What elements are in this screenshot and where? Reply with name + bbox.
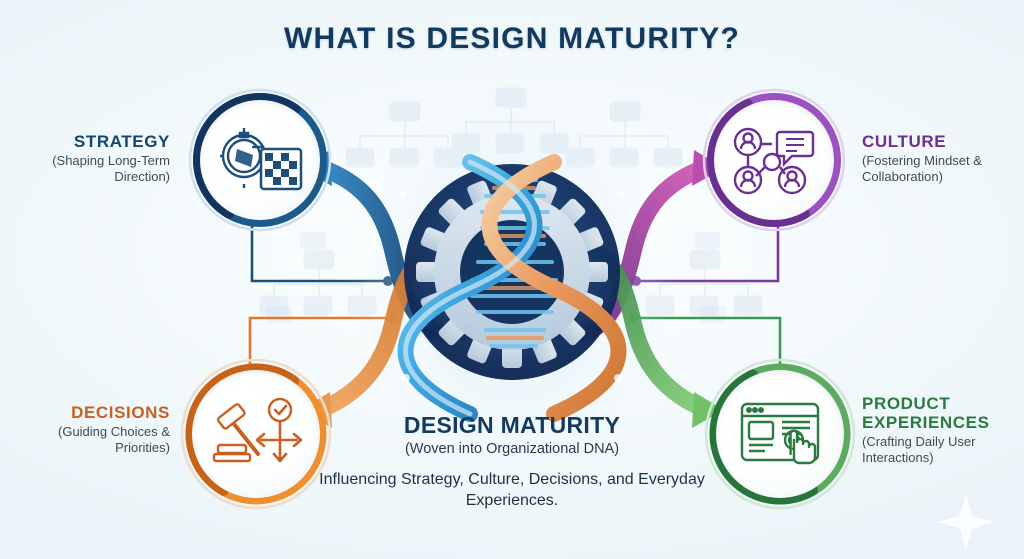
chessboard xyxy=(261,149,301,189)
culture-icon-well xyxy=(714,100,834,220)
center-title: DESIGN MATURITY xyxy=(282,412,742,439)
center-caption: DESIGN MATURITY (Woven into Organization… xyxy=(282,412,742,511)
strategy-subtitle: (Shaping Long-Term Direction) xyxy=(20,153,170,186)
label-product: PRODUCT EXPERIENCES (Crafting Daily User… xyxy=(862,394,1022,467)
node-strategy[interactable] xyxy=(186,86,334,234)
product-subtitle: (Crafting Daily User Interactions) xyxy=(862,434,1022,467)
label-decisions: DECISIONS (Guiding Choices & Priorities) xyxy=(10,403,170,457)
culture-subtitle: (Fostering Mindset & Collaboration) xyxy=(862,153,1022,186)
decisions-heading: DECISIONS xyxy=(10,403,170,422)
culture-heading: CULTURE xyxy=(862,132,1022,151)
decisions-subtitle: (Guiding Choices & Priorities) xyxy=(10,424,170,457)
node-culture[interactable] xyxy=(700,86,848,234)
people-network-chat-icon xyxy=(730,124,818,196)
sparkle-icon xyxy=(938,494,994,550)
strategy-heading: STRATEGY xyxy=(20,132,170,151)
tablet-touch-hand-icon xyxy=(734,396,826,472)
label-strategy: STRATEGY (Shaping Long-Term Direction) xyxy=(20,132,170,186)
center-subtitle: (Woven into Organizational DNA) xyxy=(282,441,742,457)
label-culture: CULTURE (Fostering Mindset & Collaborati… xyxy=(862,132,1022,186)
compass-chessboard-icon xyxy=(217,125,303,195)
page-title: WHAT IS DESIGN MATURITY? xyxy=(0,22,1024,56)
product-heading: PRODUCT EXPERIENCES xyxy=(862,394,1022,432)
infographic-canvas: WHAT IS DESIGN MATURITY? xyxy=(0,0,1024,559)
center-body: Influencing Strategy, Culture, Decisions… xyxy=(282,469,742,511)
strategy-icon-well xyxy=(200,100,320,220)
